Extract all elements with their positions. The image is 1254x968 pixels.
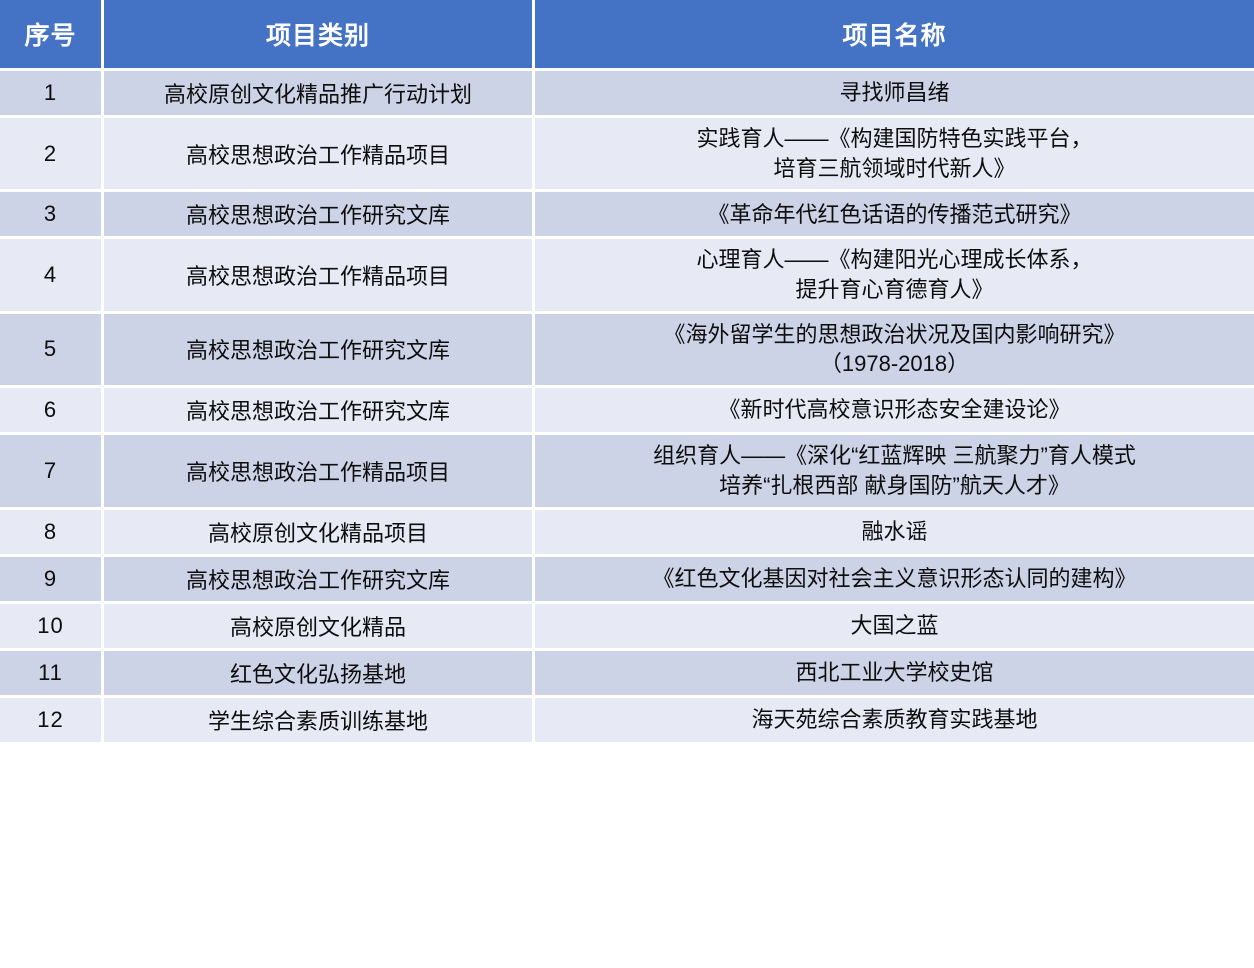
cell-project-name: 《海外留学生的思想政治状况及国内影响研究》（1978-2018） bbox=[535, 314, 1254, 388]
cell-project-type: 红色文化弘扬基地 bbox=[104, 651, 535, 698]
project-name-line: 大国之蓝 bbox=[543, 611, 1246, 641]
cell-project-name: 大国之蓝 bbox=[535, 604, 1254, 651]
cell-project-type: 高校思想政治工作精品项目 bbox=[104, 435, 535, 509]
cell-project-type: 学生综合素质训练基地 bbox=[104, 698, 535, 742]
table-row: 5高校思想政治工作研究文库《海外留学生的思想政治状况及国内影响研究》（1978-… bbox=[0, 314, 1254, 388]
cell-project-type: 高校思想政治工作研究文库 bbox=[104, 557, 535, 604]
cell-project-type: 高校原创文化精品 bbox=[104, 604, 535, 651]
project-table: 序号 项目类别 项目名称 1高校原创文化精品推广行动计划寻找师昌绪2高校思想政治… bbox=[0, 0, 1254, 742]
project-name-line: （1978-2018） bbox=[543, 349, 1246, 379]
cell-project-name: 组织育人——《深化“红蓝辉映 三航聚力”育人模式培养“扎根西部 献身国防”航天人… bbox=[535, 435, 1254, 509]
project-name-line: 实践育人——《构建国防特色实践平台， bbox=[543, 124, 1246, 154]
cell-project-name: 寻找师昌绪 bbox=[535, 71, 1254, 118]
table-row: 2高校思想政治工作精品项目实践育人——《构建国防特色实践平台，培育三航领域时代新… bbox=[0, 118, 1254, 192]
table-row: 8高校原创文化精品项目融水谣 bbox=[0, 510, 1254, 557]
cell-project-type: 高校思想政治工作精品项目 bbox=[104, 118, 535, 192]
project-table-container: 序号 项目类别 项目名称 1高校原创文化精品推广行动计划寻找师昌绪2高校思想政治… bbox=[0, 0, 1254, 968]
project-name-line: 《新时代高校意识形态安全建设论》 bbox=[543, 395, 1246, 425]
table-row: 1高校原创文化精品推广行动计划寻找师昌绪 bbox=[0, 71, 1254, 118]
table-header: 序号 项目类别 项目名称 bbox=[0, 0, 1254, 71]
project-name-line: 培育三航领域时代新人》 bbox=[543, 154, 1246, 184]
project-name-line: 西北工业大学校史馆 bbox=[543, 658, 1246, 688]
cell-index: 1 bbox=[0, 71, 104, 118]
cell-project-name: 《新时代高校意识形态安全建设论》 bbox=[535, 388, 1254, 435]
table-row: 7高校思想政治工作精品项目组织育人——《深化“红蓝辉映 三航聚力”育人模式培养“… bbox=[0, 435, 1254, 509]
table-row: 4高校思想政治工作精品项目心理育人——《构建阳光心理成长体系，提升育心育德育人》 bbox=[0, 239, 1254, 313]
cell-project-name: 海天苑综合素质教育实践基地 bbox=[535, 698, 1254, 742]
cell-project-type: 高校原创文化精品推广行动计划 bbox=[104, 71, 535, 118]
table-row: 12学生综合素质训练基地海天苑综合素质教育实践基地 bbox=[0, 698, 1254, 742]
cell-project-type: 高校原创文化精品项目 bbox=[104, 510, 535, 557]
cell-index: 9 bbox=[0, 557, 104, 604]
cell-index: 6 bbox=[0, 388, 104, 435]
project-name-line: 《革命年代红色话语的传播范式研究》 bbox=[543, 200, 1246, 230]
project-name-line: 融水谣 bbox=[543, 517, 1246, 547]
project-name-line: 培养“扎根西部 献身国防”航天人才》 bbox=[543, 471, 1246, 501]
cell-project-name: 《革命年代红色话语的传播范式研究》 bbox=[535, 192, 1254, 239]
table-body: 1高校原创文化精品推广行动计划寻找师昌绪2高校思想政治工作精品项目实践育人——《… bbox=[0, 71, 1254, 742]
cell-index: 3 bbox=[0, 192, 104, 239]
cell-project-name: 实践育人——《构建国防特色实践平台，培育三航领域时代新人》 bbox=[535, 118, 1254, 192]
header-row: 序号 项目类别 项目名称 bbox=[0, 0, 1254, 71]
cell-index: 8 bbox=[0, 510, 104, 557]
cell-project-type: 高校思想政治工作研究文库 bbox=[104, 192, 535, 239]
column-header-name: 项目名称 bbox=[535, 0, 1254, 71]
project-name-line: 海天苑综合素质教育实践基地 bbox=[543, 705, 1246, 735]
table-row: 10高校原创文化精品大国之蓝 bbox=[0, 604, 1254, 651]
project-name-line: 心理育人——《构建阳光心理成长体系， bbox=[543, 245, 1246, 275]
table-row: 11红色文化弘扬基地西北工业大学校史馆 bbox=[0, 651, 1254, 698]
cell-index: 12 bbox=[0, 698, 104, 742]
column-header-type: 项目类别 bbox=[104, 0, 535, 71]
cell-index: 11 bbox=[0, 651, 104, 698]
column-header-index: 序号 bbox=[0, 0, 104, 71]
cell-project-type: 高校思想政治工作研究文库 bbox=[104, 388, 535, 435]
table-row: 6高校思想政治工作研究文库《新时代高校意识形态安全建设论》 bbox=[0, 388, 1254, 435]
project-name-line: 提升育心育德育人》 bbox=[543, 275, 1246, 305]
cell-project-type: 高校思想政治工作精品项目 bbox=[104, 239, 535, 313]
project-name-line: 《红色文化基因对社会主义意识形态认同的建构》 bbox=[543, 564, 1246, 594]
project-name-line: 《海外留学生的思想政治状况及国内影响研究》 bbox=[543, 320, 1246, 350]
table-row: 3高校思想政治工作研究文库《革命年代红色话语的传播范式研究》 bbox=[0, 192, 1254, 239]
cell-project-type: 高校思想政治工作研究文库 bbox=[104, 314, 535, 388]
table-row: 9高校思想政治工作研究文库《红色文化基因对社会主义意识形态认同的建构》 bbox=[0, 557, 1254, 604]
cell-index: 4 bbox=[0, 239, 104, 313]
cell-index: 7 bbox=[0, 435, 104, 509]
cell-index: 2 bbox=[0, 118, 104, 192]
cell-index: 5 bbox=[0, 314, 104, 388]
cell-project-name: 西北工业大学校史馆 bbox=[535, 651, 1254, 698]
project-name-line: 寻找师昌绪 bbox=[543, 78, 1246, 108]
cell-project-name: 《红色文化基因对社会主义意识形态认同的建构》 bbox=[535, 557, 1254, 604]
cell-project-name: 心理育人——《构建阳光心理成长体系，提升育心育德育人》 bbox=[535, 239, 1254, 313]
cell-index: 10 bbox=[0, 604, 104, 651]
project-name-line: 组织育人——《深化“红蓝辉映 三航聚力”育人模式 bbox=[543, 441, 1246, 471]
cell-project-name: 融水谣 bbox=[535, 510, 1254, 557]
